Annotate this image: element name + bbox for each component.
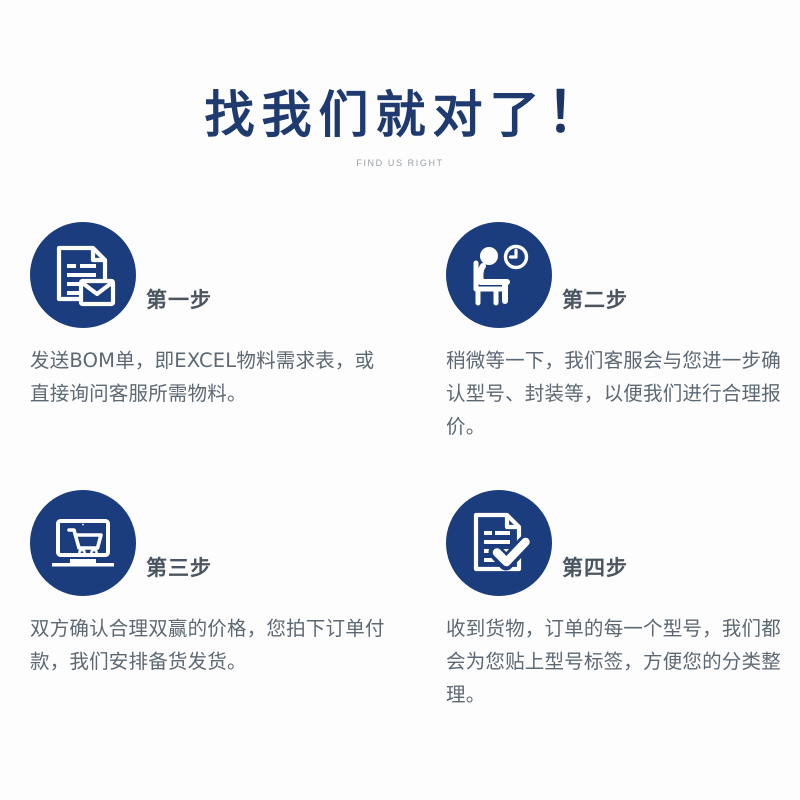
page-title-text: 找我们就对了	[205, 86, 547, 144]
step-4-label: 第四步	[562, 552, 628, 582]
step-3-label: 第三步	[146, 552, 212, 582]
step-2-header: 第二步	[446, 210, 800, 328]
steps-grid: 第一步 发送BOM单，即EXCEL物料需求表，或直接询问客服所需物料。	[0, 210, 800, 711]
step-2-label: 第二步	[562, 284, 628, 314]
step-card-3: 第三步 双方确认合理双赢的价格，您拍下订单付款，我们安排备货发货。	[0, 478, 418, 711]
seated-person-clock-icon	[463, 239, 535, 311]
step-2-body: 稍微等一下，我们客服会与您进一步确认型号、封装等，以便我们进行合理报价。	[446, 344, 786, 443]
page-title: 找我们就对了！	[198, 86, 603, 142]
step-card-1: 第一步 发送BOM单，即EXCEL物料需求表，或直接询问客服所需物料。	[0, 210, 418, 478]
step-4-badge	[446, 490, 552, 596]
laptop-shopping-cart-icon	[46, 506, 120, 580]
step-3-body: 双方确认合理双赢的价格，您拍下订单付款，我们安排备货发货。	[30, 612, 390, 678]
step-3-badge	[30, 490, 136, 596]
step-1-body: 发送BOM单，即EXCEL物料需求表，或直接询问客服所需物料。	[30, 344, 390, 410]
step-1-header: 第一步	[30, 210, 418, 328]
step-card-4: 第四步 收到货物，订单的每一个型号，我们都会为您贴上型号标签，方便您的分类整理。	[418, 478, 800, 711]
document-check-icon	[463, 507, 535, 579]
step-1-label: 第一步	[146, 284, 212, 314]
page-header: 找我们就对了！ FIND US RIGHT	[0, 0, 800, 168]
step-1-badge	[30, 222, 136, 328]
page-subtitle: FIND US RIGHT	[0, 158, 800, 168]
step-4-header: 第四步	[446, 478, 800, 596]
exclamation-mark: ！	[547, 81, 603, 146]
step-2-badge	[446, 222, 552, 328]
step-4-body: 收到货物，订单的每一个型号，我们都会为您贴上型号标签，方便您的分类整理。	[446, 612, 786, 711]
document-envelope-icon	[47, 239, 119, 311]
step-card-2: 第二步 稍微等一下，我们客服会与您进一步确认型号、封装等，以便我们进行合理报价。	[418, 210, 800, 478]
step-3-header: 第三步	[30, 478, 418, 596]
